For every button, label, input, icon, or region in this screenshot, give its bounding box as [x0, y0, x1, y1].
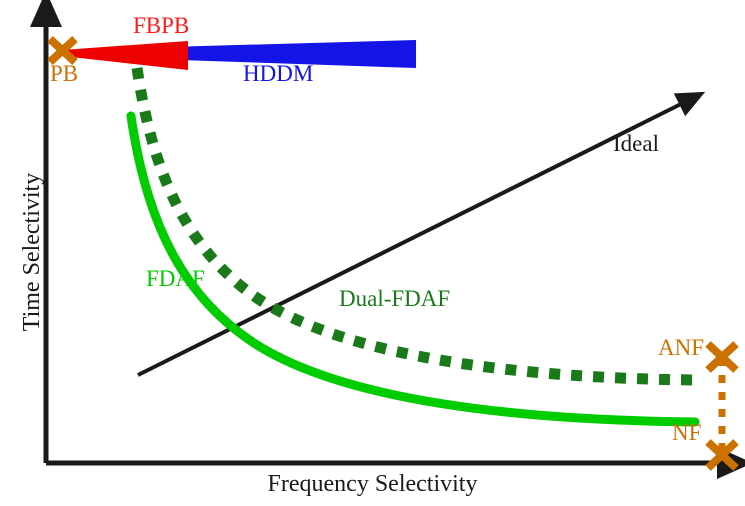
y-axis-label: Time Selectivity — [20, 132, 44, 372]
anf-marker-icon — [708, 344, 736, 370]
dual-fdaf-label: Dual-FDAF — [339, 287, 450, 310]
selectivity-tradeoff-plot — [0, 0, 745, 506]
fdaf-curve — [131, 116, 695, 422]
fbpb-wedge — [62, 41, 188, 70]
nf-label: NF — [672, 421, 701, 444]
anf-label: ANF — [658, 336, 704, 359]
x-axis-label: Frequency Selectivity — [0, 472, 745, 496]
pb-label: PB — [50, 62, 78, 85]
fbpb-label: FBPB — [133, 14, 189, 37]
ideal-label: Ideal — [613, 132, 659, 155]
chart-canvas: Frequency Selectivity Time Selectivity P… — [0, 0, 745, 506]
fdaf-label: FDAF — [146, 267, 205, 290]
ideal-arrow — [138, 103, 683, 375]
hddm-label: HDDM — [243, 62, 313, 85]
